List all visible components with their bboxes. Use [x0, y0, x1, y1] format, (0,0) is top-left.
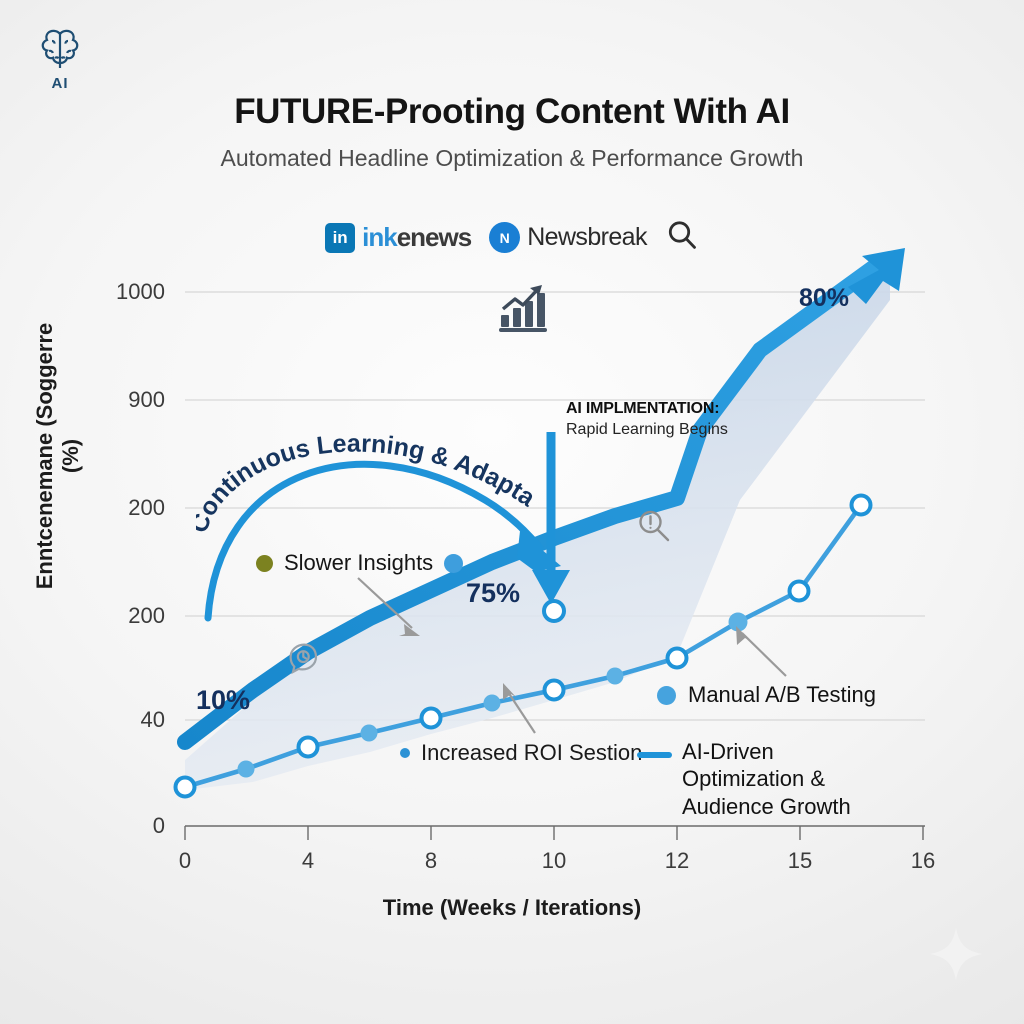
legend-dot-manual-icon — [657, 686, 676, 705]
ai-implementation-annotation: AI IMPLMENTATION: Rapid Learning Begins — [566, 400, 786, 439]
x-axis-title: Time (Weeks / Iterations) — [0, 895, 1024, 921]
y-tick-1: 900 — [95, 387, 165, 413]
search-alert-icon — [634, 506, 676, 553]
legend-label-manual: Manual A/B Testing — [688, 682, 876, 708]
pct-end-label: 80% — [799, 284, 849, 313]
y-tick-3: 200 — [95, 603, 165, 629]
y-tick-5: 0 — [95, 813, 165, 839]
x-tick-3: 10 — [524, 848, 584, 874]
x-tick-2: 8 — [401, 848, 461, 874]
x-axis-ticks — [185, 826, 923, 840]
y-tick-2: 200 — [95, 495, 165, 521]
x-tick-5: 15 — [770, 848, 830, 874]
legend-item-roi[interactable]: Increased ROI Sestion — [400, 740, 642, 766]
ai-implementation-heading: AI IMPLMENTATION: — [566, 400, 786, 418]
legend-line-ai-icon — [637, 752, 672, 758]
olive-dot-icon — [256, 555, 273, 572]
continuous-learning-label-text: Continuous Learning & Adaptation — [196, 420, 541, 537]
continuous-learning-label: Continuous Learning & Adaptation — [196, 420, 556, 550]
y-axis-title: Enntcenemane (Soggerre (%) — [32, 306, 84, 606]
legend-item-manual[interactable]: Manual A/B Testing — [657, 682, 876, 708]
blue-dot-icon — [444, 554, 463, 573]
y-tick-4: 40 — [95, 707, 165, 733]
pct-start-label: 10% — [196, 685, 250, 716]
ai-implementation-sub: Rapid Learning Begins — [566, 421, 786, 439]
x-tick-6: 16 — [893, 848, 953, 874]
legend-item-ai-line[interactable]: AI-Driven Optimization & Audience Growth — [637, 738, 897, 820]
pct-mid-label: 75% — [466, 578, 520, 609]
slower-insights-label: Slower Insights — [284, 550, 433, 576]
x-tick-1: 4 — [278, 848, 338, 874]
legend-dot-roi-icon — [400, 748, 410, 758]
bar-chart-growth-icon — [497, 283, 549, 338]
insight-bubble-icon — [285, 640, 323, 683]
x-tick-0: 0 — [155, 848, 215, 874]
y-tick-0: 1000 — [95, 279, 165, 305]
slower-insights-annotation: Slower Insights — [256, 550, 463, 576]
legend-label-roi: Increased ROI Sestion — [421, 740, 642, 766]
infographic-canvas: AI FUTURE-Prooting Content With AI Autom… — [0, 0, 1024, 1024]
sparkle-icon — [928, 926, 984, 982]
legend-label-ai-line: AI-Driven Optimization & Audience Growth — [682, 738, 897, 820]
x-tick-4: 12 — [647, 848, 707, 874]
